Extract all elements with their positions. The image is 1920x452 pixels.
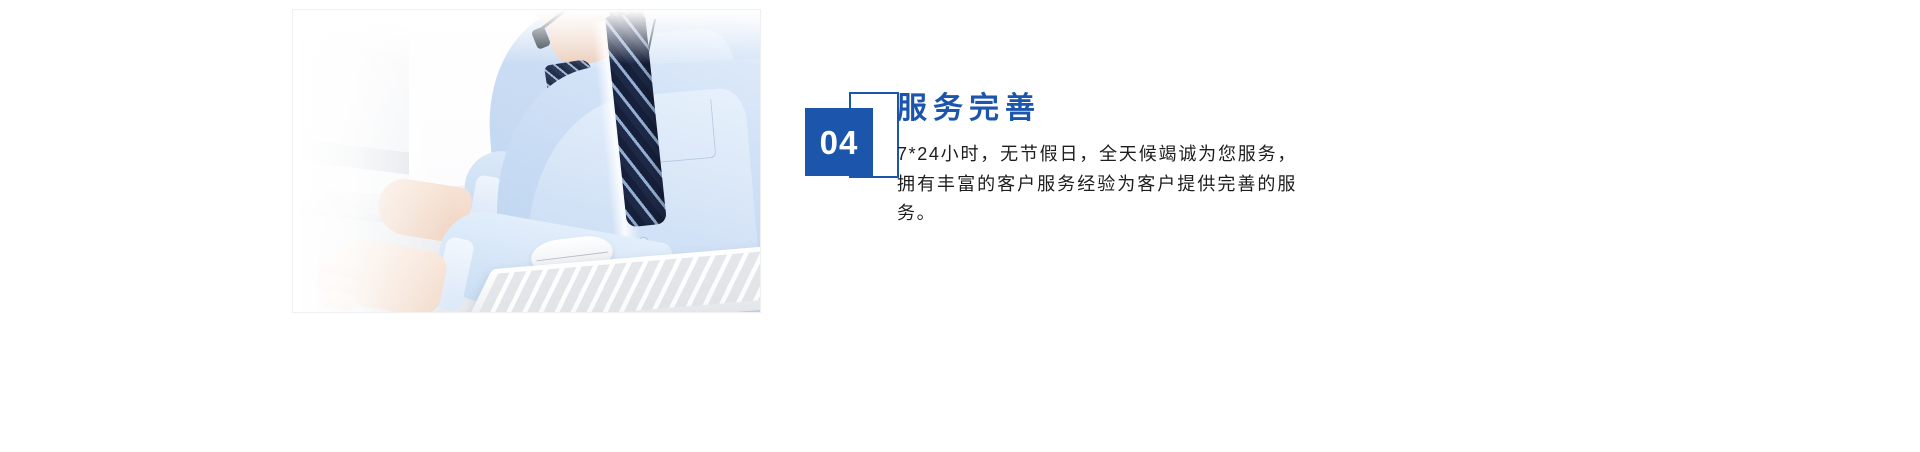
feature-number-badge: 04 bbox=[805, 92, 905, 184]
service-feature-banner: 04 服务完善 7*24小时，无节假日，全天候竭诚为您服务，拥有丰富的客户服务经… bbox=[0, 0, 1920, 452]
feature-photo bbox=[293, 10, 760, 312]
monitor-icon bbox=[301, 15, 409, 196]
feature-description: 7*24小时，无节假日，全天候竭诚为您服务，拥有丰富的客户服务经验为客户提供完善… bbox=[897, 140, 1297, 227]
feature-text-column: 服务完善 7*24小时，无节假日，全天候竭诚为您服务，拥有丰富的客户服务经验为客… bbox=[897, 90, 1317, 228]
photo-scene bbox=[293, 10, 760, 312]
badge-number-label: 04 bbox=[805, 108, 873, 176]
feature-heading: 服务完善 bbox=[897, 90, 1317, 128]
